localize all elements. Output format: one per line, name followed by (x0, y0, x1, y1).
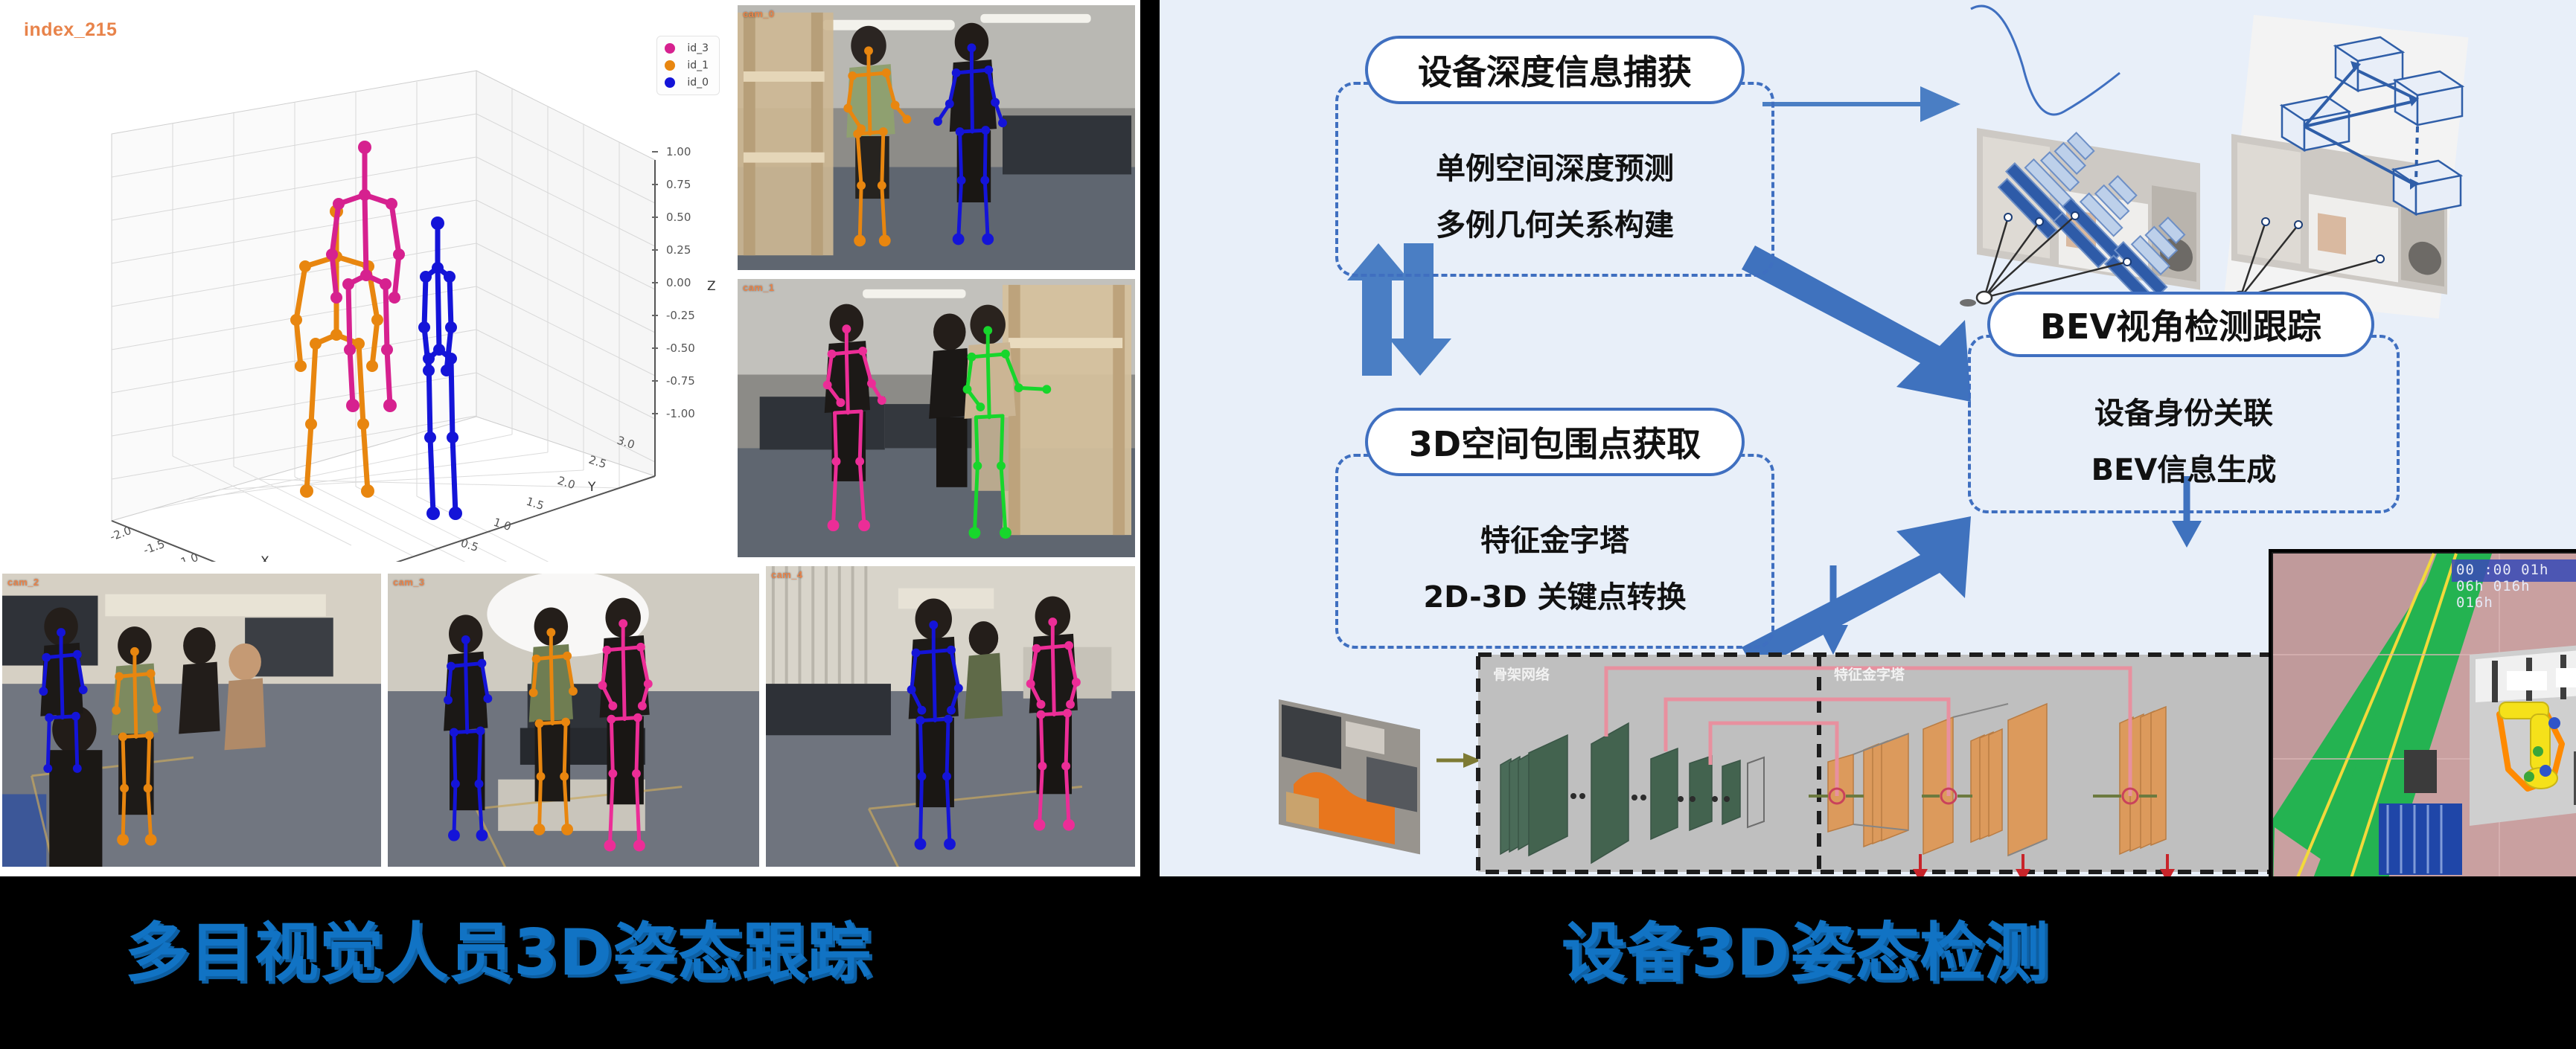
svg-text:0.5: 0.5 (459, 536, 480, 554)
svg-text:X: X (261, 554, 269, 562)
group-line: 单例空间深度预测 (1436, 144, 1674, 187)
svg-text:-1.5: -1.5 (141, 537, 167, 557)
camera-photo-mid-right: cam_1 (735, 277, 1137, 559)
svg-text:0.50: 0.50 (666, 211, 691, 224)
bev-box-graph-illustration (2216, 15, 2468, 318)
cnn-network-diagram (1279, 655, 2273, 876)
panel-divider (1140, 0, 1160, 876)
plot-legend: id_3 id_1 id_0 (656, 36, 720, 95)
legend-color-swatch (665, 60, 675, 71)
svg-text:0.00: 0.00 (666, 276, 691, 289)
photo-label: cam_0 (743, 8, 774, 19)
svg-text:-2.0: -2.0 (108, 524, 133, 544)
right-panel: 设备深度信息捕获 单例空间深度预测 多例几何关系构建 3D空间包围点获取 特征金… (1160, 0, 2576, 876)
group-line: 设备身份关联 (2094, 389, 2273, 432)
svg-text:-0.25: -0.25 (666, 309, 695, 322)
svg-text:-0.75: -0.75 (666, 374, 695, 388)
sim-overlay-text: 00 :00 01h 06h 016h 016h (2456, 562, 2576, 611)
svg-text:0.25: 0.25 (666, 243, 691, 257)
pose-3d-axes: 1.000.75 0.500.25 0.00-0.25 -0.50-0.75 -… (0, 0, 733, 562)
legend-label: id_1 (687, 60, 709, 71)
arrow-bbox-to-bev (1742, 516, 1971, 671)
arrow-depth-to-bev (1742, 246, 1971, 402)
caption-left: 多目视觉人员3D姿态跟踪 (125, 900, 872, 993)
legend-item: id_1 (665, 60, 709, 71)
svg-text:1.00: 1.00 (666, 145, 691, 158)
caption-right: 设备3D姿态检测 (1562, 900, 2049, 993)
group-lines-depth: 单例空间深度预测 多例几何关系构建 (1335, 116, 1774, 272)
arrow-bev-to-sim-head (2172, 521, 2202, 548)
camera-photo-top-right: cam_0 (735, 3, 1137, 272)
caption-bar: 多目视觉人员3D姿态跟踪 设备3D姿态检测 (0, 876, 2576, 1049)
group-line: 多例几何关系构建 (1436, 201, 1674, 244)
photo-label: cam_2 (7, 577, 39, 588)
photo-label: cam_4 (771, 569, 802, 580)
legend-label: id_3 (687, 42, 709, 54)
svg-text:0.75: 0.75 (666, 178, 691, 191)
group-lines-bbox: 特征金字塔 2D-3D 关键点转换 (1335, 488, 1774, 644)
arrow-bbox-to-network-head (1818, 625, 1848, 655)
group-lines-bev: 设备身份关联 BEV信息生成 (1968, 366, 2400, 512)
plot-title: index_215 (24, 19, 117, 41)
left-panel: 1.000.75 0.500.25 0.00-0.25 -0.50-0.75 -… (0, 0, 1140, 876)
legend-item: id_3 (665, 42, 709, 54)
legend-label: id_0 (687, 77, 709, 89)
pill-bev-title[interactable]: BEV视角检测跟踪 (1987, 292, 2374, 357)
svg-text:Y: Y (587, 480, 596, 495)
z-tick-labels: 1.000.75 0.500.25 0.00-0.25 -0.50-0.75 -… (666, 145, 716, 420)
network-pyramid-label: 特征金字塔 (1834, 664, 1905, 684)
pill-bbox-title[interactable]: 3D空间包围点获取 (1365, 408, 1745, 476)
svg-text:Z: Z (707, 279, 716, 294)
pose-3d-plot: 1.000.75 0.500.25 0.00-0.25 -0.50-0.75 -… (0, 0, 733, 562)
svg-text:-0.50: -0.50 (666, 341, 695, 355)
photo-label: cam_3 (393, 577, 424, 588)
group-line: BEV信息生成 (2091, 446, 2277, 489)
camera-photo-bottom-mid: cam_3 (386, 571, 761, 869)
camera-photo-bottom-right: cam_4 (764, 564, 1137, 869)
legend-color-swatch (665, 77, 675, 88)
group-line: 特征金字塔 (1480, 516, 1629, 559)
legend-item: id_0 (665, 77, 709, 89)
group-line: 2D-3D 关键点转换 (1423, 573, 1686, 616)
bev-projection-illustration (1960, 6, 2202, 307)
legend-color-swatch (665, 43, 675, 54)
pill-depth-title[interactable]: 设备深度信息捕获 (1365, 36, 1745, 104)
poster-root: 1.000.75 0.500.25 0.00-0.25 -0.50-0.75 -… (0, 0, 2576, 1049)
photo-label: cam_1 (743, 282, 774, 293)
camera-photo-bottom-left: cam_2 (0, 571, 383, 869)
network-backbone-label: 骨架网络 (1493, 664, 1550, 684)
svg-text:-1.00: -1.00 (666, 407, 695, 420)
